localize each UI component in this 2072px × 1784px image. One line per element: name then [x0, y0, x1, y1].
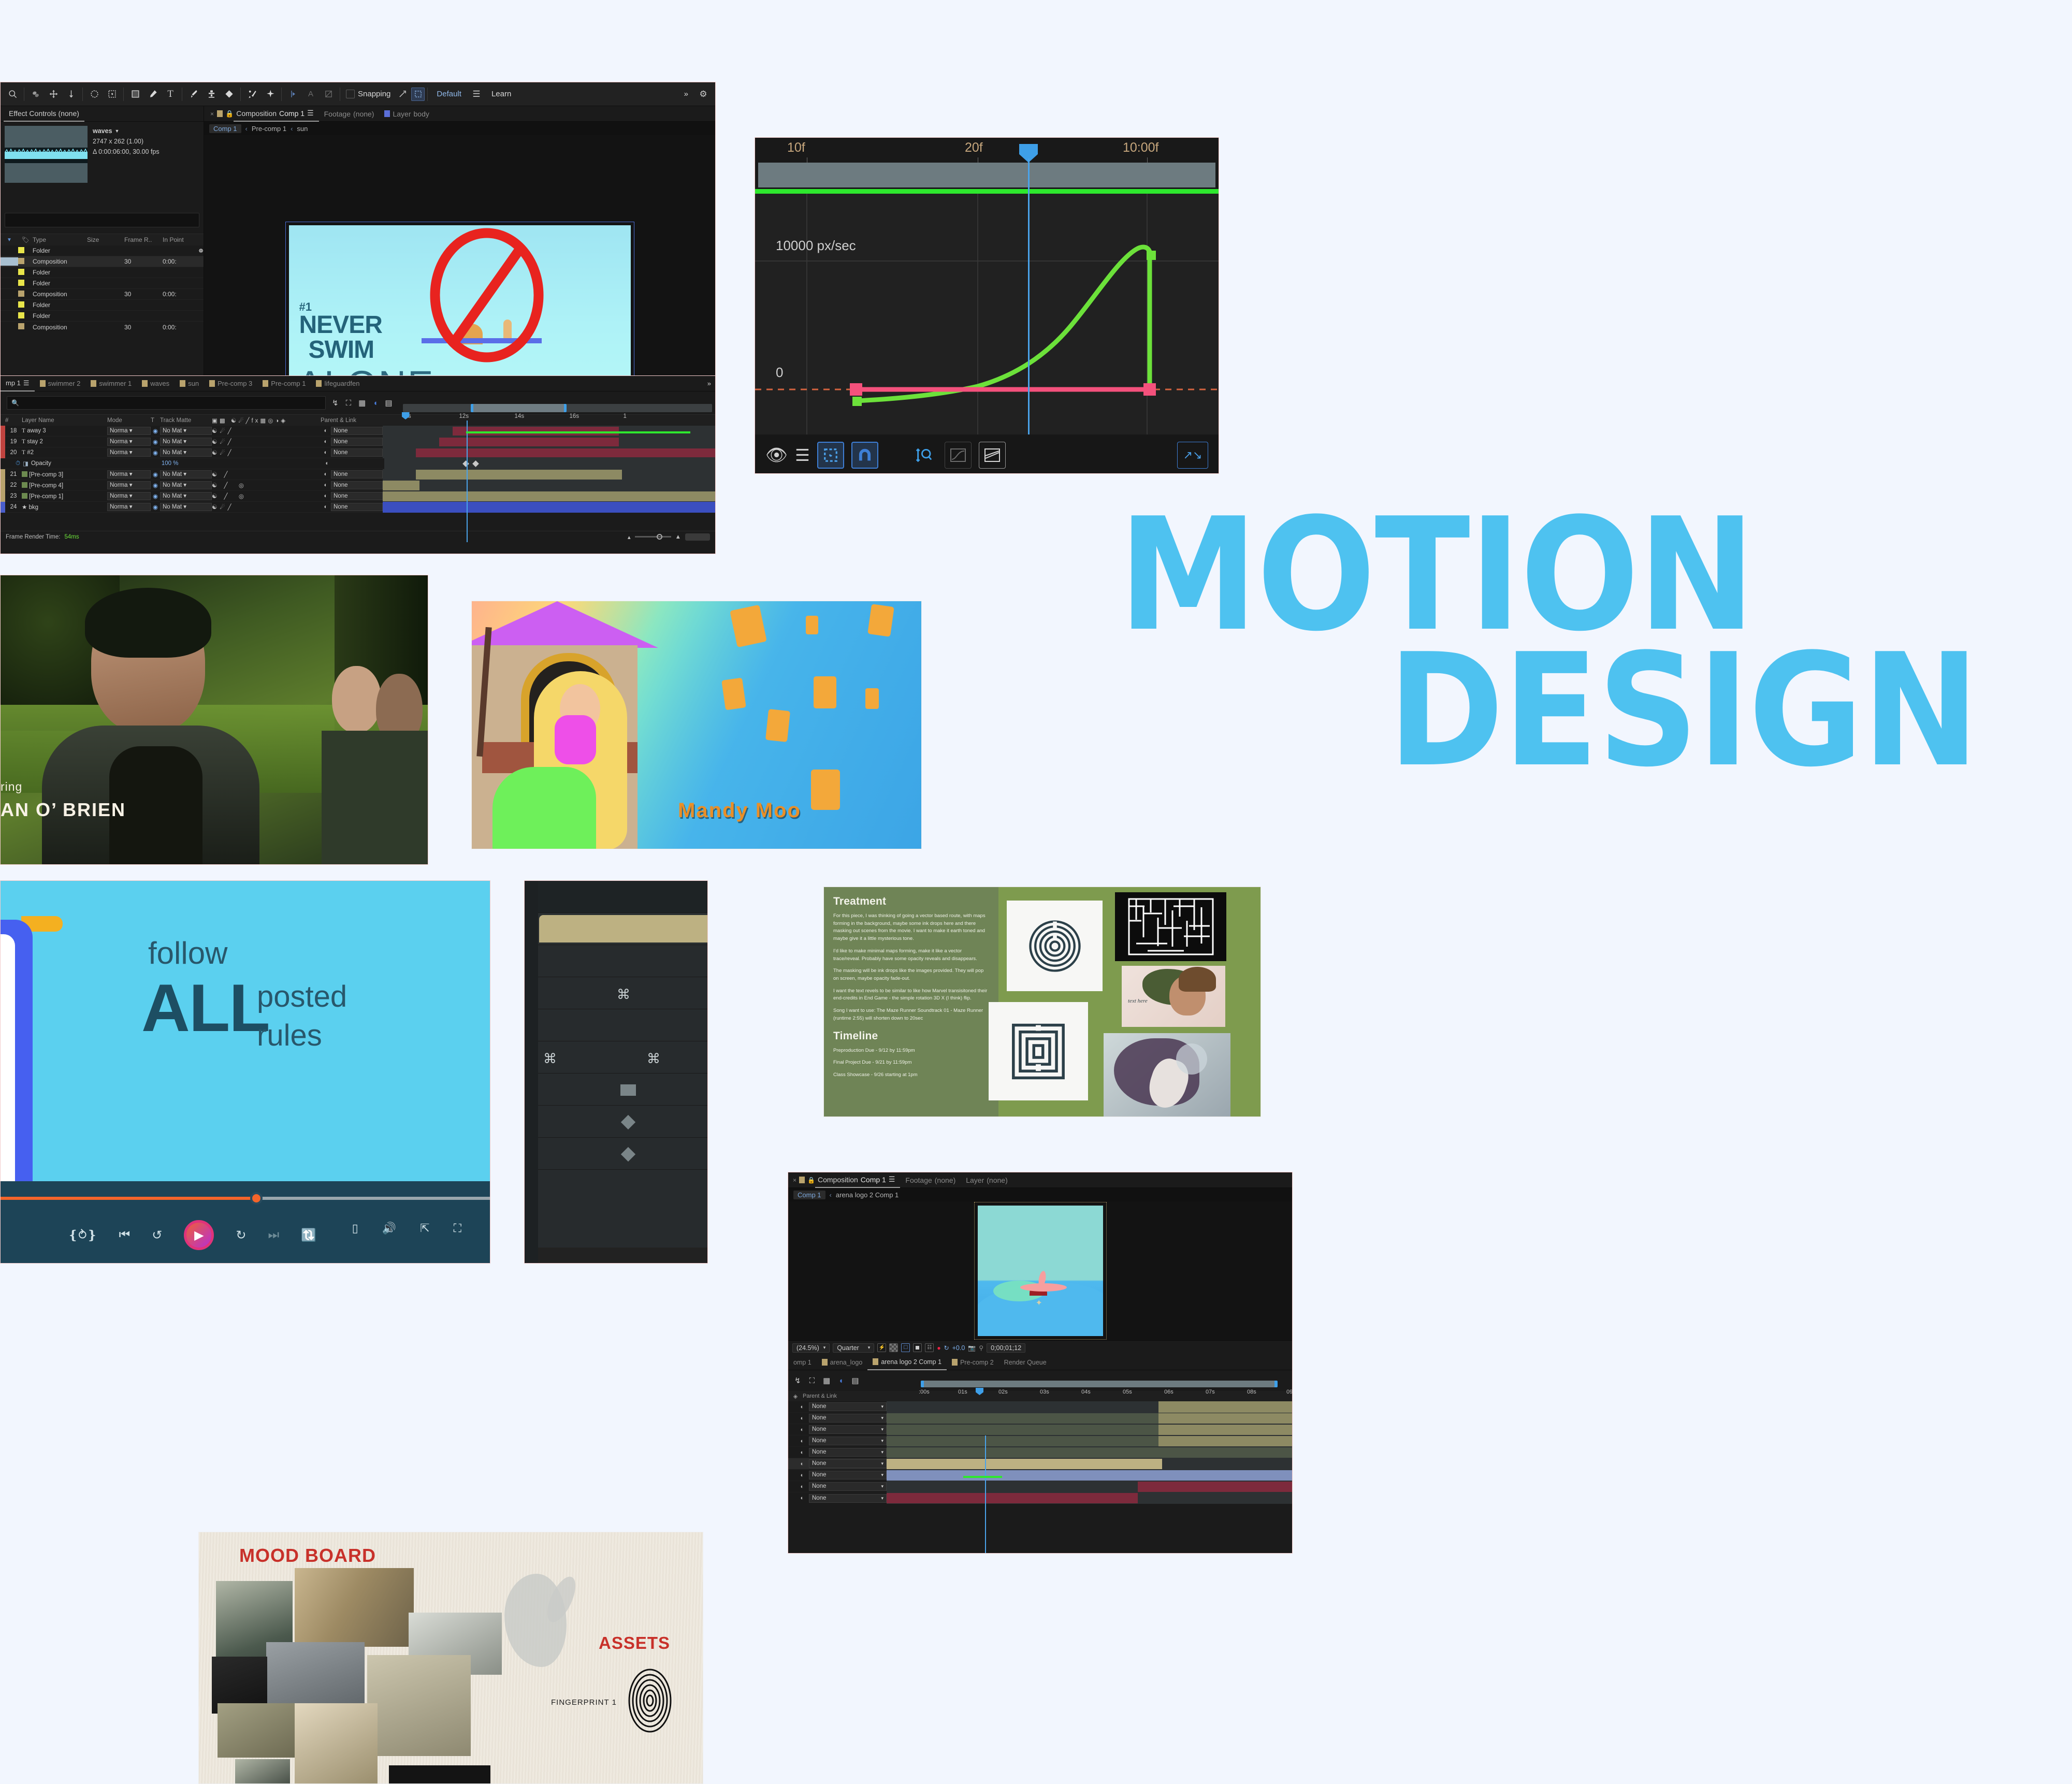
play-icon[interactable]: ▶ — [184, 1220, 214, 1250]
layer-label-color[interactable] — [1, 469, 5, 480]
parent-select[interactable]: None — [331, 481, 383, 489]
breadcrumb-2-item-1[interactable]: arena logo 2 Comp 1 — [836, 1191, 899, 1199]
layer-switches[interactable]: ☯ ╱ — [212, 471, 321, 478]
parent-pickwhip-icon[interactable]: ◐ — [795, 1404, 809, 1410]
panel-menu-icon[interactable]: ☰ — [23, 379, 30, 387]
edit-value-graph-icon[interactable] — [945, 442, 972, 469]
keyframe-row[interactable] — [525, 1074, 707, 1106]
panel-menu-icon[interactable]: ☰ — [307, 109, 314, 118]
mode-select[interactable]: Norma ▾ — [107, 492, 151, 500]
pen-tool-icon[interactable] — [144, 85, 162, 103]
parent-pickwhip-icon[interactable]: ◐ — [795, 1484, 809, 1490]
rotation-icon[interactable] — [85, 85, 103, 103]
fullscreen-icon[interactable]: ⇱ — [420, 1222, 429, 1235]
timeline-tabbar[interactable]: mp 1 ☰ swimmer 2 swimmer 1 waves sun Pre… — [1, 376, 715, 391]
enable-frame-blending-icon[interactable]: ⛶ — [809, 1376, 815, 1385]
channel-icon[interactable]: ● — [937, 1344, 940, 1352]
layer-bar[interactable] — [1138, 1482, 1292, 1492]
layer-label-color[interactable] — [1, 447, 5, 458]
timeline-tabbar-2[interactable]: omp 1 arena_logo arena logo 2 Comp 1 Pre… — [788, 1355, 1292, 1370]
graph-time-ruler[interactable]: 10f 20f 10:00f — [755, 138, 1219, 163]
clone-stamp-icon[interactable] — [202, 85, 220, 103]
parent-pickwhip-icon[interactable]: ◐ — [795, 1449, 809, 1456]
breadcrumb-item-2[interactable]: sun — [297, 125, 308, 133]
comp-text-line-2: NEVER — [299, 311, 382, 339]
table-row[interactable]: Composition 30 0:00: — [1, 322, 204, 332]
col-parent-link[interactable]: Parent & Link — [321, 417, 383, 424]
ruler2-label-9: 09s — [1286, 1389, 1293, 1395]
table-row[interactable]: ◐ None▾ — [788, 1492, 1292, 1504]
fit-selection-icon[interactable] — [910, 442, 937, 469]
parent-pickwhip-icon[interactable]: ◐ — [795, 1438, 809, 1444]
timeline-2-tab-2[interactable]: arena logo 2 Comp 1 — [867, 1355, 947, 1370]
roto-brush-icon[interactable] — [243, 85, 261, 103]
parent-pickwhip-icon[interactable]: ◐ — [795, 1461, 809, 1467]
snapshot-icon[interactable]: 📷 — [968, 1344, 976, 1352]
breadcrumb-item-0[interactable]: Comp 1 — [209, 124, 241, 133]
timeline-tab-7[interactable]: lifeguardfen — [311, 376, 365, 391]
breadcrumb[interactable]: Comp 1 ‹ Pre-comp 1 ‹ sun — [204, 122, 715, 135]
tab-layer[interactable]: Layer body — [379, 106, 434, 122]
layer-switches[interactable]: ☯☄╱ — [212, 427, 321, 434]
timeline-zoom-scrollbar[interactable] — [403, 404, 712, 412]
composition-viewer-2[interactable]: ✦ — [788, 1201, 1292, 1340]
graph-editor-toolbar[interactable]: 👁 ☰ ↗↘ — [755, 434, 1219, 474]
motion-blur-icon[interactable]: ▦ — [358, 398, 366, 408]
workspace-default-label[interactable]: Default — [430, 90, 468, 98]
keyframe-row[interactable] — [525, 1170, 707, 1248]
mode-select[interactable]: Norma ▾ — [107, 427, 151, 435]
video-controls-bar[interactable]: ❴⥁❵ ⏮ ↺ ▶ ↻ ⏭ 🔃 ▯ 🔊 ⇱ ⛶ — [1, 1181, 490, 1263]
tab-composition[interactable]: Composition Comp 1 ☰ — [234, 106, 318, 122]
timeline-2-tab-4[interactable]: Render Queue — [999, 1355, 1052, 1370]
layer-bar-secondary[interactable] — [1158, 1413, 1292, 1424]
anchor-point-icon[interactable] — [62, 85, 80, 103]
enable-frame-blending-icon[interactable]: ⛶ — [346, 399, 352, 408]
table-row[interactable]: ◐ None▾ — [788, 1424, 1292, 1435]
workspace-menu-icon[interactable]: ☰ — [468, 85, 485, 103]
table-row[interactable]: Folder — [1, 311, 204, 322]
footage-dimensions: 2747 x 262 (1.00) — [93, 136, 199, 147]
layer-label-color[interactable] — [1, 491, 5, 502]
timeline-2-zoom-scrollbar[interactable] — [921, 1381, 1278, 1387]
lock-icon[interactable]: 🔒 — [807, 1177, 815, 1184]
timeline-search-field[interactable]: 🔍 — [7, 396, 326, 410]
search-icon[interactable] — [4, 85, 21, 103]
keyframe-detail-panel[interactable]: ◂ ⌘ ⌘ ⌘ — [524, 880, 708, 1264]
transform-box-icon[interactable] — [411, 88, 425, 101]
layer-name[interactable]: [Pre-comp 1] — [29, 494, 63, 500]
col-size[interactable]: Size — [87, 236, 124, 243]
ease-keyframe-icon[interactable]: ⌘ — [543, 1051, 557, 1067]
table-row[interactable]: ◐ None▾ — [788, 1481, 1292, 1492]
timeline-2-tab-1[interactable]: arena_logo — [817, 1355, 868, 1370]
graph-workarea-bar[interactable] — [758, 163, 1215, 187]
parent-select[interactable]: None — [331, 492, 383, 500]
lock-icon[interactable]: 🔒 — [225, 110, 234, 118]
parent-pickwhip-icon[interactable]: ◐ — [795, 1415, 809, 1422]
puppet-pin-icon[interactable] — [261, 85, 279, 103]
playhead-marker-2[interactable] — [976, 1388, 983, 1395]
film-still-maze-runner[interactable]: ring AN O’ BRIEN — [0, 575, 428, 865]
table-row[interactable]: ◐ None▾ — [788, 1401, 1292, 1413]
parent-pickwhip-icon[interactable]: ◐ — [795, 1495, 809, 1501]
after-effects-second-window[interactable]: × 🔒 Composition Comp 1 ☰ Footage (none) … — [788, 1172, 1293, 1554]
timeline-playhead[interactable] — [467, 420, 468, 542]
col-mode[interactable]: Mode — [107, 417, 151, 424]
layer-label-color[interactable] — [1, 437, 5, 447]
track-matte-select[interactable]: No Mat ▾ — [160, 470, 212, 478]
layer-bar[interactable] — [383, 481, 419, 490]
align-distribute-icon[interactable] — [320, 85, 337, 103]
mode-select[interactable]: Norma ▾ — [107, 438, 151, 446]
graph-editor-icon[interactable]: ◖ — [838, 1376, 843, 1385]
layer-bar[interactable] — [1158, 1401, 1292, 1413]
secondary-character-body — [322, 731, 428, 865]
layer-name[interactable]: [Pre-comp 4] — [29, 483, 63, 489]
snapping-checkbox[interactable] — [346, 90, 355, 98]
timeline-tab-3[interactable]: waves — [137, 376, 175, 391]
timeline-2-tab-0[interactable]: omp 1 — [788, 1355, 817, 1370]
snap-arrow-icon[interactable] — [394, 85, 411, 103]
mode-select[interactable]: Norma ▾ — [107, 503, 151, 511]
parent-select[interactable]: None▾ — [809, 1494, 887, 1503]
panel-menu-icon[interactable]: ☰ — [889, 1175, 895, 1184]
tab-layer-2[interactable]: Layer (none) — [961, 1172, 1013, 1188]
previous-icon[interactable]: ⏮ — [119, 1228, 131, 1242]
next-icon[interactable]: ⏭ — [268, 1228, 279, 1242]
timeline-tabs-overflow-icon[interactable]: » — [703, 380, 715, 387]
layer-name[interactable]: away 3 — [27, 428, 46, 434]
layer-switches[interactable]: ☯☄╱ — [212, 503, 321, 511]
layer-bar[interactable] — [416, 470, 622, 480]
track-matte-select[interactable]: No Mat ▾ — [160, 481, 212, 489]
choose-graph-type-icon[interactable]: ☰ — [795, 445, 810, 465]
zoom-out-icon[interactable]: ▴ — [628, 533, 631, 541]
mode-select[interactable]: Norma ▾ — [107, 448, 151, 457]
parent-select[interactable]: None▾ — [809, 1448, 887, 1457]
volume-icon[interactable]: 🔊 — [382, 1222, 396, 1235]
shape-tool-icon[interactable] — [126, 85, 144, 103]
comp-button[interactable] — [685, 533, 710, 541]
layer-number: 23 — [5, 493, 22, 499]
table-row[interactable]: ◐ None▾ — [788, 1470, 1292, 1481]
timeline-zoom-slider[interactable] — [635, 536, 671, 538]
parent-select[interactable]: None — [331, 448, 383, 457]
track-matte-select[interactable]: No Mat ▾ — [160, 427, 212, 435]
parent-select[interactable]: None▾ — [809, 1414, 887, 1423]
parent-pickwhip-icon[interactable]: ◐ — [795, 1427, 809, 1433]
gear-icon[interactable]: ⚙ — [694, 85, 712, 103]
layer-switches[interactable]: ☯☄╱ — [212, 438, 321, 445]
project-sort-icon[interactable]: ▼ — [1, 237, 18, 243]
video-controls-left[interactable]: ❴⥁❵ ⏮ ↺ ▶ ↻ ⏭ 🔃 — [68, 1220, 316, 1250]
edit-speed-graph-icon[interactable] — [979, 442, 1006, 469]
track-matte-select[interactable]: No Mat ▾ — [160, 448, 212, 457]
keyframe-row[interactable] — [525, 1106, 707, 1138]
time-ruler-2[interactable]: :00s 01s 02s 03s 04s 05s 06s 07s 08s 09s — [918, 1389, 1292, 1399]
table-row[interactable]: Composition 30 0:00: — [1, 256, 204, 267]
layer-bar-secondary[interactable] — [1158, 1436, 1292, 1446]
table-row[interactable]: 21 [Pre-comp 3] Norma ▾ ◉ No Mat ▾ ☯ ╱ ◐… — [1, 469, 715, 480]
keyframe-row[interactable] — [525, 1138, 707, 1170]
col-layer-name[interactable]: Layer Name — [22, 417, 107, 424]
toolbar-overflow-icon[interactable]: » — [678, 90, 694, 98]
shuffle-icon[interactable]: ❴⥁❵ — [68, 1228, 97, 1243]
col-track-matte[interactable]: Track Matte — [160, 417, 212, 424]
table-row[interactable]: Folder — [1, 267, 204, 278]
breadcrumb-2-item-0[interactable]: Comp 1 — [793, 1191, 825, 1199]
row-frame-rate: 30 — [124, 291, 163, 298]
keyframe-row[interactable]: ◂ ⌘ — [525, 977, 707, 1009]
track-matte-select[interactable]: No Mat ▾ — [160, 492, 212, 500]
timeline-item: Preproduction Due - 9/12 by 11:59pm — [833, 1047, 989, 1055]
layer-name[interactable]: stay 2 — [27, 439, 43, 445]
keyframe-diamond[interactable] — [462, 460, 469, 467]
tab-footage[interactable]: Footage (none) — [319, 106, 380, 122]
opacity-value[interactable]: 100 % — [162, 460, 213, 467]
col-frame-rate[interactable]: Frame R.. — [124, 236, 163, 243]
after-effects-timeline-panel[interactable]: mp 1 ☰ swimmer 2 swimmer 1 waves sun Pre… — [0, 375, 716, 554]
separate-dimensions-icon[interactable]: ↗↘ — [1177, 442, 1208, 469]
effect-controls-tabbar[interactable]: Effect Controls (none) — [1, 106, 204, 122]
picture-in-picture-icon[interactable]: ⛶ — [454, 1222, 461, 1235]
speed-graph-plot[interactable]: 10000 px/sec 0 — [755, 194, 1219, 434]
forward-30-icon[interactable]: ↻ — [236, 1228, 246, 1243]
col-parent-link-2[interactable]: Parent & Link — [803, 1393, 902, 1399]
mode-select[interactable]: Norma ▾ — [107, 481, 151, 489]
show-channels-icon[interactable]: 👁 — [765, 445, 788, 466]
stopwatch-icon[interactable]: ⏱ — [16, 460, 20, 467]
timeline-tab-0[interactable]: mp 1 ☰ — [1, 376, 35, 391]
shy-icon[interactable]: ↯ — [332, 398, 339, 408]
diamond-keyframe-icon[interactable] — [621, 1147, 635, 1162]
layer-switches-icons[interactable]: ▣▩ ☯☄╱fx▦◎◑◈ — [212, 417, 321, 424]
timeline-2-tab-2-label: arena logo 2 Comp 1 — [881, 1358, 941, 1366]
layer-bar[interactable] — [887, 1470, 1292, 1481]
layer-switches[interactable]: ☯ ╱ ◎ — [212, 482, 321, 489]
col-in-point[interactable]: In Point — [163, 236, 199, 243]
keyframe-diamond[interactable] — [473, 460, 480, 467]
lantern — [765, 709, 790, 742]
graph-editor-panel[interactable]: 10f 20f 10:00f 10000 px/sec 0 — [755, 137, 1219, 474]
comp-swatch-icon — [799, 1177, 805, 1183]
comp-canvas-2[interactable]: ✦ — [978, 1206, 1103, 1336]
layer-bar[interactable] — [453, 427, 619, 436]
parent-select[interactable]: None — [331, 470, 383, 478]
pan-behind-icon[interactable] — [45, 85, 62, 103]
viewer-bottom-bar-2[interactable]: (24.5%) ▾ Quarter ▾ ⚡ ☐ ☷ ● ↻ +0.0 📷 ⚲ 0… — [788, 1340, 1292, 1355]
table-row[interactable]: 20 T #2 Norma ▾ ◉ No Mat ▾ ☯☄╱ ◐ None — [1, 447, 715, 458]
parent-select[interactable]: None▾ — [809, 1425, 887, 1434]
ae-toolbar[interactable]: T A Snapping — [1, 82, 715, 106]
layer-name[interactable]: #2 — [27, 449, 34, 456]
layer-name[interactable]: bkg — [29, 504, 39, 511]
zoom-select-2[interactable]: (24.5%) ▾ — [792, 1343, 830, 1353]
assets-title: ASSETS — [599, 1633, 670, 1653]
timeline-tab-2[interactable]: swimmer 1 — [85, 376, 137, 391]
exposure-value-2[interactable]: +0.0 — [952, 1344, 965, 1352]
learn-label[interactable]: Learn — [485, 90, 517, 98]
parent-select[interactable]: None — [331, 503, 383, 511]
graph-icon[interactable]: ◨ — [20, 460, 31, 467]
close-icon[interactable]: × — [207, 110, 217, 118]
timeline-tab-5-label: Pre-comp 3 — [218, 380, 252, 387]
keyframe-row[interactable] — [525, 1009, 707, 1041]
align-text-icon[interactable]: A — [302, 85, 320, 103]
track-matte-select[interactable]: No Mat ▾ — [160, 438, 212, 446]
tab-composition-2[interactable]: Composition Comp 1 ☰ — [815, 1172, 900, 1188]
clip-bar[interactable] — [539, 915, 707, 942]
show-snapshot-icon[interactable]: ⚲ — [979, 1344, 983, 1352]
footage-name: waves — [93, 126, 112, 136]
toggle-transparency-grid-icon[interactable] — [889, 1343, 898, 1352]
timeline-tab-1[interactable]: swimmer 2 — [35, 376, 86, 391]
table-row[interactable]: 23 [Pre-comp 1] Norma ▾ ◉ No Mat ▾ ☯ ╱ ◎… — [1, 491, 715, 502]
layer-bar[interactable] — [383, 502, 715, 513]
tangled-title-card[interactable]: Mandy Moo — [471, 601, 922, 849]
align-left-icon[interactable] — [284, 85, 302, 103]
layer-label-color[interactable] — [1, 502, 5, 513]
project-search-field[interactable] — [5, 213, 199, 227]
brainstorm-icon[interactable]: ▤ — [385, 398, 392, 408]
keyframe-row[interactable] — [525, 945, 707, 977]
table-row[interactable]: ◐ None▾ — [788, 1447, 1292, 1458]
tab-effect-controls[interactable]: Effect Controls (none) — [4, 106, 84, 122]
breadcrumb-item-1[interactable]: Pre-comp 1 — [252, 125, 286, 133]
fast-previews-icon[interactable]: ⚡ — [877, 1343, 886, 1352]
timeline-tab-4[interactable]: sun — [175, 376, 204, 391]
col-type[interactable]: Type — [33, 236, 87, 243]
video-player[interactable]: LES NO Breath Holding NO Yelling NO — [0, 880, 490, 1264]
keyframe-row[interactable]: ⌘ ⌘ — [525, 1041, 707, 1074]
grid-guides-icon[interactable]: ☷ — [925, 1343, 934, 1352]
parent-select[interactable]: None — [331, 438, 383, 446]
treatment-document[interactable]: Treatment For this piece, I was thinking… — [823, 887, 1261, 1117]
ruler2-label-0: :00s — [919, 1389, 930, 1395]
timeline-tab-5[interactable]: Pre-comp 3 — [204, 376, 257, 391]
snap-icon[interactable] — [851, 442, 878, 469]
show-transform-box-icon[interactable] — [817, 442, 844, 469]
layer-bar[interactable] — [887, 1493, 1138, 1503]
video-headline-all: ALL — [141, 969, 269, 1047]
table-row[interactable]: Folder — [1, 300, 204, 311]
ease-keyframe-icon[interactable]: ⌘ — [647, 1051, 660, 1067]
tab-footage-2[interactable]: Footage (none) — [900, 1172, 961, 1188]
parent-select[interactable]: None — [331, 427, 383, 435]
eraser-icon[interactable] — [220, 85, 238, 103]
table-row[interactable]: ◐ None▾ — [788, 1458, 1292, 1470]
layer-name[interactable]: [Pre-comp 3] — [29, 472, 63, 478]
layer-bar-secondary[interactable] — [1158, 1425, 1292, 1435]
graph-playhead-line[interactable] — [1028, 194, 1030, 434]
mode-select[interactable]: Norma ▾ — [107, 470, 151, 478]
parent-select[interactable]: None▾ — [809, 1402, 887, 1411]
ruler2-label-5: 05s — [1123, 1389, 1132, 1395]
timeline-2-playhead[interactable] — [985, 1435, 986, 1553]
parent-select[interactable]: None▾ — [809, 1437, 887, 1445]
layer-bar[interactable] — [416, 448, 715, 457]
layer-bar[interactable] — [383, 491, 715, 501]
timeline-tab-6[interactable]: Pre-comp 1 — [257, 376, 311, 391]
layer-label-color[interactable] — [1, 426, 5, 437]
reset-exposure-icon[interactable]: ↻ — [944, 1344, 949, 1352]
resolution-select-2[interactable]: Quarter ▾ — [833, 1343, 874, 1353]
timeline-tab-6-label: Pre-comp 1 — [271, 380, 306, 387]
close-icon[interactable]: × — [790, 1177, 799, 1184]
timecode-display-2[interactable]: 0;00;01;12 — [987, 1343, 1025, 1353]
row-in-point: 0:00: — [163, 324, 199, 331]
table-row[interactable]: 22 [Pre-comp 4] Norma ▾ ◉ No Mat ▾ ☯ ╱ ◎… — [1, 480, 715, 491]
comp-swatch-icon — [18, 323, 33, 331]
table-row[interactable]: 24 ★ bkg Norma ▾ ◉ No Mat ▾ ☯☄╱ ◐ None — [1, 502, 715, 513]
table-row[interactable]: ◐ None▾ — [788, 1413, 1292, 1424]
keyframe-row-clip[interactable] — [525, 913, 707, 945]
video-screen[interactable]: LES NO Breath Holding NO Yelling NO — [1, 881, 490, 1183]
anchor-point-icon[interactable]: ✦ — [1036, 1298, 1042, 1308]
layer-label-color[interactable] — [1, 480, 5, 491]
layer-rows-2[interactable]: ◐ None▾ ◐ None▾ ◐ None▾ ◐ None▾ ◐ None▾ — [788, 1401, 1292, 1504]
layer-switches[interactable]: ☯☄╱ — [212, 449, 321, 456]
shy-icon[interactable]: ↯ — [794, 1376, 801, 1385]
layer-bar[interactable] — [887, 1459, 1162, 1469]
project-rows[interactable]: Folder ☸ Composition 30 0:00: Folder — [1, 245, 204, 332]
unified-camera-icon[interactable] — [27, 85, 45, 103]
layer-bar[interactable] — [887, 1447, 1292, 1458]
video-controls-right[interactable]: ▯ 🔊 ⇱ ⛶ — [352, 1222, 461, 1235]
motion-blur-icon[interactable]: ▦ — [823, 1376, 830, 1385]
time-ruler[interactable]: 0s 12s 14s 16s 1 — [400, 413, 715, 425]
brush-tool-icon[interactable] — [185, 85, 202, 103]
video-progress-track[interactable] — [1, 1197, 490, 1200]
table-row[interactable]: Folder — [1, 278, 204, 289]
subtitles-icon[interactable]: ▯ — [352, 1222, 358, 1235]
ease-keyframe-icon[interactable]: ⌘ — [617, 987, 630, 1003]
no-repeat-icon[interactable]: 🔃 — [301, 1228, 316, 1243]
parent-select[interactable]: None▾ — [809, 1471, 887, 1480]
graph-editor-icon[interactable]: ◖ — [373, 399, 378, 408]
table-row[interactable]: 19 T stay 2 Norma ▾ ◉ No Mat ▾ ☯☄╱ ◐ Non… — [1, 437, 715, 447]
table-row[interactable]: Composition 30 0:00: — [1, 289, 204, 300]
region-of-interest-icon[interactable] — [103, 85, 121, 103]
viewer-tabbar[interactable]: × 🔒 Composition Comp 1 ☰ Footage (none) … — [204, 106, 715, 122]
hold-keyframe-icon[interactable] — [620, 1084, 636, 1096]
breadcrumb-2[interactable]: Comp 1 ‹ arena logo 2 Comp 1 — [788, 1188, 1292, 1201]
parent-pickwhip-icon[interactable]: ◐ — [795, 1472, 809, 1478]
video-progress-handle[interactable] — [250, 1192, 263, 1205]
table-row[interactable]: ◐ None▾ — [788, 1435, 1292, 1447]
toggle-mask-icon[interactable]: ☐ — [901, 1343, 910, 1352]
parent-select[interactable]: None▾ — [809, 1459, 887, 1468]
rewind-10-icon[interactable]: ↺ — [152, 1228, 162, 1243]
brainstorm-icon[interactable]: ▤ — [851, 1376, 859, 1385]
zoom-in-icon[interactable]: ▲ — [675, 534, 681, 540]
layer-rows[interactable]: 18 T away 3 Norma ▾ ◉ No Mat ▾ ☯☄╱ ◐ Non… — [1, 426, 715, 531]
parent-select[interactable]: None▾ — [809, 1482, 887, 1491]
diamond-keyframe-icon[interactable] — [621, 1115, 635, 1129]
viewer-tabbar-2[interactable]: × 🔒 Composition Comp 1 ☰ Footage (none) … — [788, 1172, 1292, 1188]
region-of-interest-icon[interactable] — [913, 1343, 922, 1352]
footage-menu-icon[interactable]: ▼ — [115, 127, 120, 135]
property-row-opacity[interactable]: ⏱ ◨ Opacity 100 % ◐ — [1, 458, 715, 469]
keyframe-row[interactable] — [525, 881, 707, 913]
layer-switches[interactable]: ☯ ╱ ◎ — [212, 492, 321, 500]
type-tool-icon[interactable]: T — [162, 85, 179, 103]
track-matte-select[interactable]: No Mat ▾ — [160, 503, 212, 511]
mood-board-document[interactable]: MOOD BOARD ASSETS FINGERPRINT 1 — [198, 1532, 703, 1784]
table-row[interactable]: Folder ☸ — [1, 245, 204, 256]
timeline-2-tab-3[interactable]: Pre-comp 2 — [947, 1355, 999, 1370]
